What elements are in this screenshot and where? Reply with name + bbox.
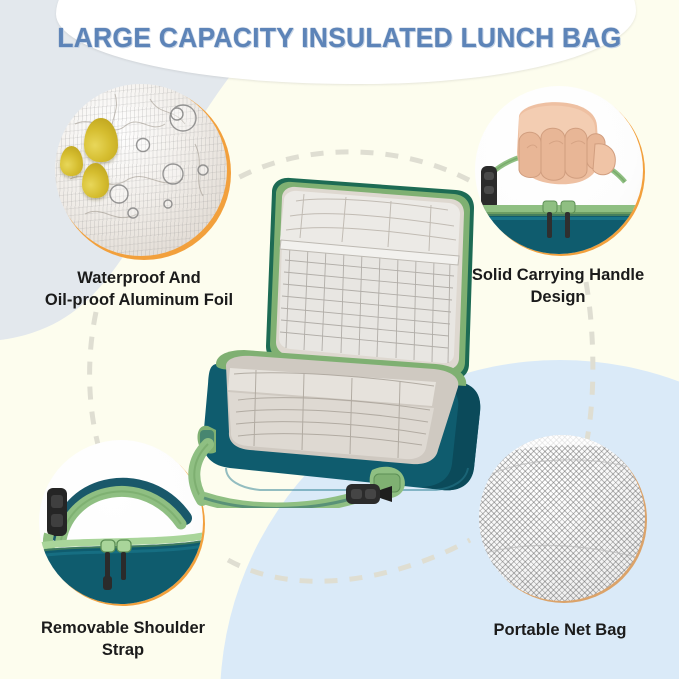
caption-line-2: Strap: [0, 640, 246, 662]
oil-droplet-small: [60, 146, 83, 176]
mesh-net-pocket-icon: [479, 435, 645, 601]
bag-lid: [266, 178, 474, 379]
shoulder-strap-buckle-icon: [39, 440, 203, 604]
oil-droplet-large: [84, 118, 118, 162]
caption-line-1: Portable Net Bag: [440, 620, 679, 642]
open-insulated-lunch-bag: [186, 168, 496, 508]
caption-shoulder-strap: Removable Shoulder Strap: [0, 618, 246, 662]
infographic-canvas: LARGE CAPACITY INSULATED LUNCH BAG: [0, 0, 679, 679]
mesh-pocket: [279, 240, 459, 363]
bag-base: [203, 350, 480, 490]
caption-line-1: Removable Shoulder: [0, 618, 246, 640]
page-title: LARGE CAPACITY INSULATED LUNCH BAG: [14, 22, 666, 54]
caption-net-bag: Portable Net Bag: [440, 620, 679, 642]
oil-droplet-medium: [82, 163, 109, 198]
hand-holding-handle-icon: [475, 86, 643, 254]
